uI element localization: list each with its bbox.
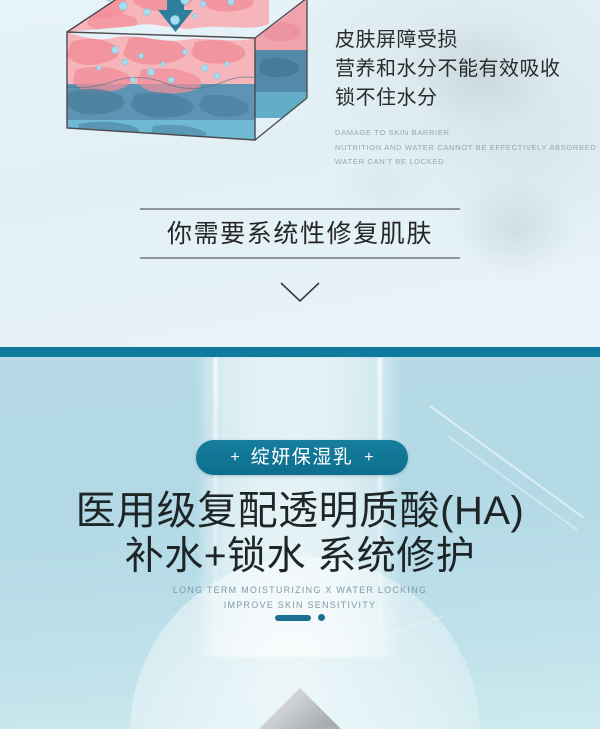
damage-en-line: WATER CAN'T BE LOCKED [335, 155, 585, 170]
rule-bottom [140, 257, 460, 259]
damage-en-line: DAMAGE TO SKIN BARRIER [335, 126, 585, 141]
carousel-indicator[interactable] [0, 614, 600, 621]
need-headline: 你需要系统性修复肌肤 [140, 210, 460, 257]
hero-headline-primary: 医用级复配透明质酸(HA) [0, 487, 600, 535]
chevron-down-icon [140, 280, 460, 304]
carousel-dot[interactable] [318, 614, 325, 621]
hero-headline-secondary: 补水+锁水 系统修护 [0, 534, 600, 580]
plus-icon-right: + [364, 450, 373, 466]
hero-subtitle-line: IMPROVE SKIN SENSITIVITY [0, 598, 600, 613]
hero-subtitle-line: LONG TERM MOISTURIZING X WATER LOCKING [0, 583, 600, 598]
section-divider-bar [0, 347, 600, 357]
gel-texture-diamond [218, 688, 382, 729]
product-name-label: 绽妍保湿乳 [251, 448, 354, 467]
product-name-badge[interactable]: + 绽妍保湿乳 + [196, 440, 408, 475]
damage-line: 皮肤屏障受损 [335, 26, 585, 55]
damage-english-block: DAMAGE TO SKIN BARRIER NUTRITION AND WAT… [335, 126, 585, 170]
product-detail-page: 皮肤屏障受损 营养和水分不能有效吸收 锁不住水分 DAMAGE TO SKIN … [0, 0, 600, 729]
product-texture-shot [0, 688, 600, 729]
damage-text-block: 皮肤屏障受损 营养和水分不能有效吸收 锁不住水分 DAMAGE TO SKIN … [335, 26, 585, 170]
skin-barrier-cross-section [55, 0, 320, 150]
background-smudge [455, 180, 575, 280]
damage-en-line: NUTRITION AND WATER CANNOT BE EFFECTIVEL… [335, 141, 585, 156]
hero-subtitle-block: LONG TERM MOISTURIZING X WATER LOCKING I… [0, 583, 600, 613]
problem-section: 皮肤屏障受损 营养和水分不能有效吸收 锁不住水分 DAMAGE TO SKIN … [0, 0, 600, 348]
plus-icon-left: + [230, 450, 239, 466]
need-headline-block: 你需要系统性修复肌肤 [140, 208, 460, 259]
damage-line: 营养和水分不能有效吸收 [335, 55, 585, 84]
damage-line: 锁不住水分 [335, 84, 585, 113]
carousel-dot-active[interactable] [275, 615, 311, 621]
